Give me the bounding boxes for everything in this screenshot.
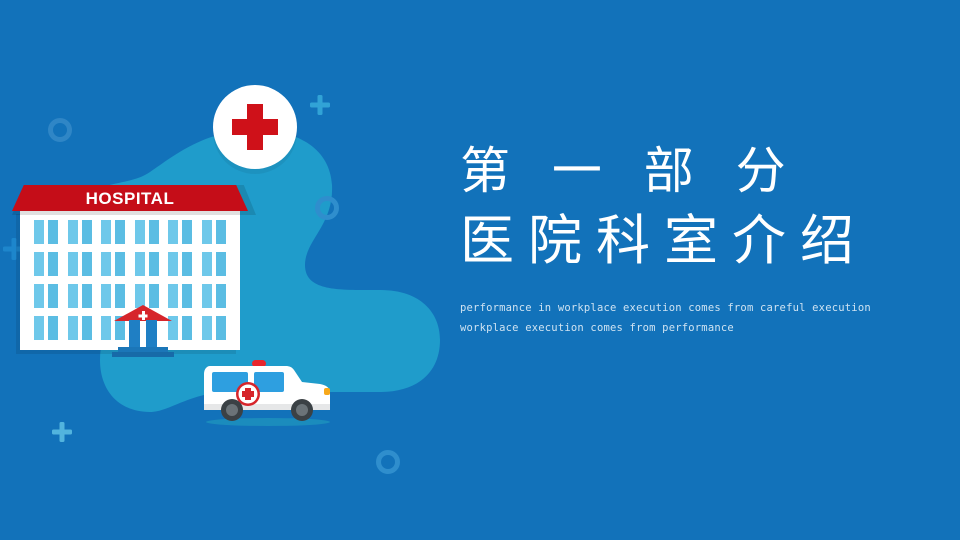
entrance-pillar-right xyxy=(146,320,157,348)
entrance-cross-icon xyxy=(139,311,148,320)
medical-cross-icon xyxy=(232,104,278,150)
ambulance-icon xyxy=(198,358,338,428)
building-sign-label: HOSPITAL xyxy=(12,186,248,212)
medical-cross-badge xyxy=(213,85,297,169)
presentation-slide: HOSPITAL xyxy=(0,0,960,540)
entrance-pillar-left xyxy=(129,320,140,348)
description-line-2: workplace execution comes from performan… xyxy=(460,318,910,338)
ring-bottom-right xyxy=(376,450,400,474)
plus-top-right xyxy=(310,95,330,115)
ring-mid-right xyxy=(315,196,339,220)
ring-top-left xyxy=(48,118,72,142)
window-row xyxy=(34,220,226,244)
section-label: 第 一 部 分 xyxy=(460,140,910,202)
plus-bottom-left xyxy=(52,422,72,442)
entrance-step-lower xyxy=(112,352,174,357)
description-line-1: performance in workplace execution comes… xyxy=(460,298,910,318)
page-title: 医院科室介绍 xyxy=(460,206,910,276)
window-row xyxy=(34,252,226,276)
building-entrance xyxy=(124,305,162,350)
slide-description: performance in workplace execution comes… xyxy=(460,298,910,338)
slide-text-block: 第 一 部 分 医院科室介绍 performance in workplace … xyxy=(460,140,910,338)
